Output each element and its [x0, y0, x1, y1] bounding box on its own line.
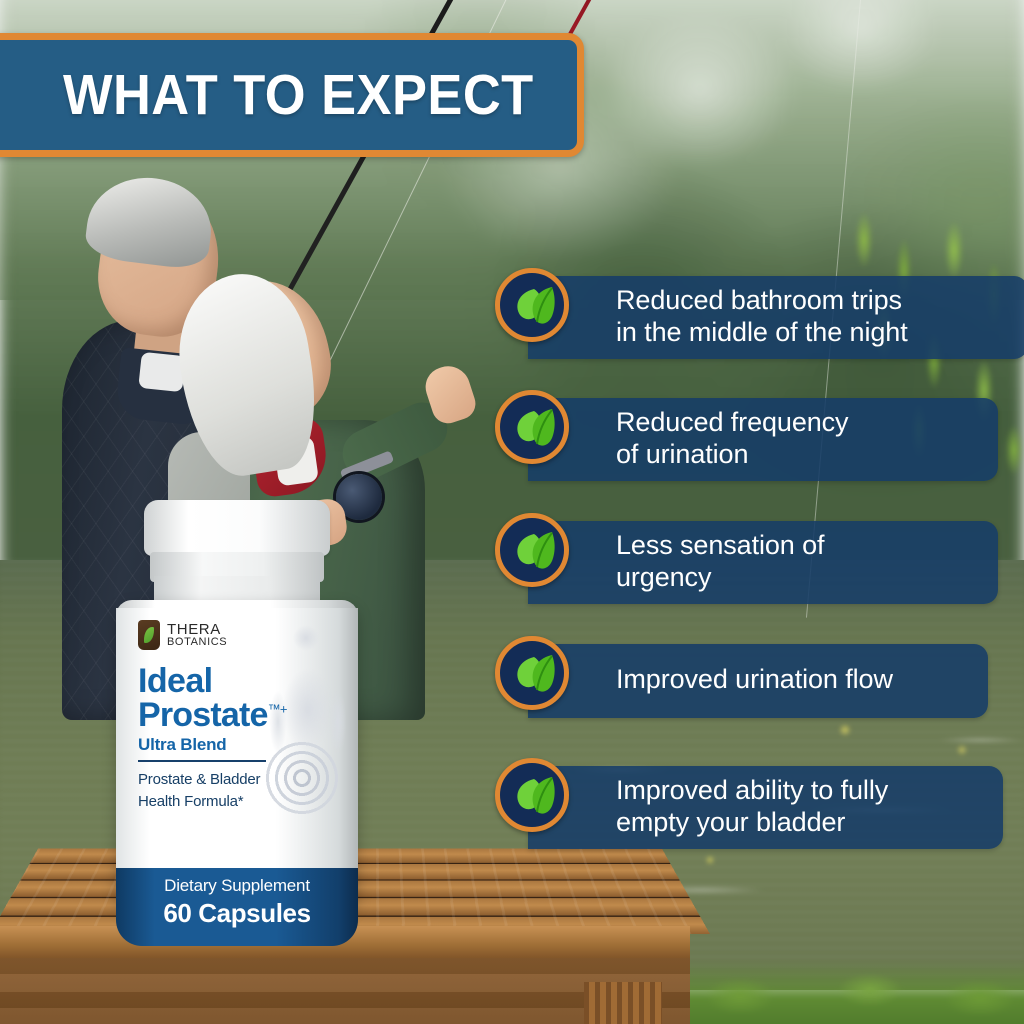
benefit-label: Improved ability to fully empty your bla… [528, 766, 1003, 849]
benefit-label: Reduced bathroom trips in the middle of … [528, 276, 1024, 359]
benefit-label: Less sensation of urgency [528, 521, 998, 604]
leaf-badge-icon [495, 758, 569, 832]
leaf-badge-icon [495, 513, 569, 587]
leaf-badge-icon [495, 636, 569, 710]
benefit-label: Improved urination flow [528, 644, 988, 718]
promo-graphic: THERA BOTANICS Ideal Prostate™+ Ultra Bl… [0, 0, 1024, 1024]
leaf-badge-icon [495, 390, 569, 464]
benefits-list: Reduced bathroom trips in the middle of … [0, 0, 1024, 1024]
leaf-badge-icon [495, 268, 569, 342]
benefit-label: Reduced frequency of urination [528, 398, 998, 481]
